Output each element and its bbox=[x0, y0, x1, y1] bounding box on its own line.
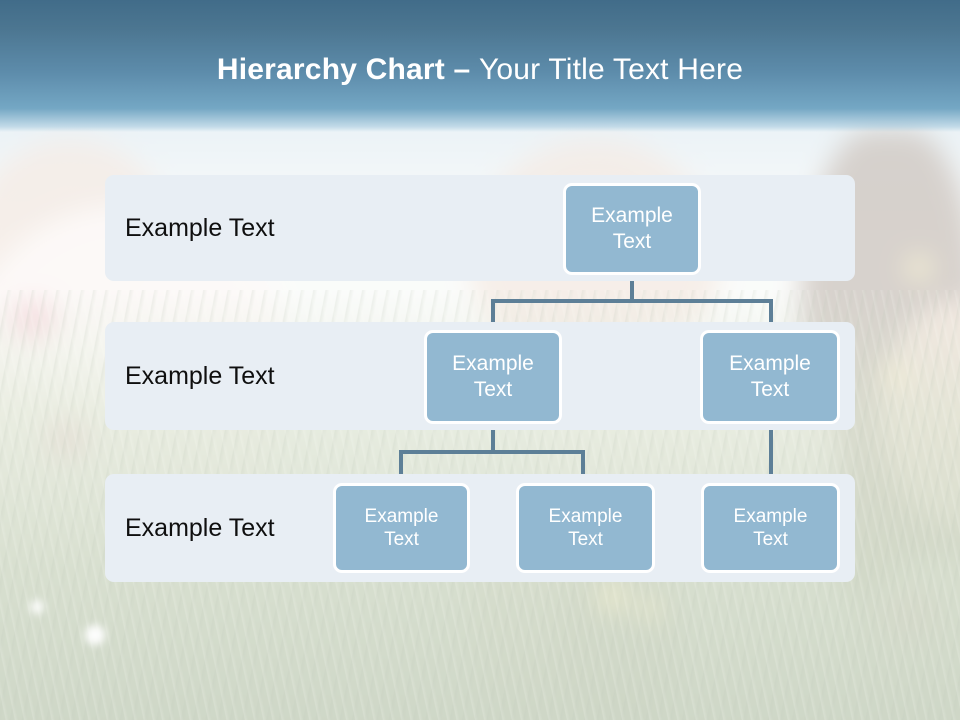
page-title: Hierarchy Chart – Your Title Text Here bbox=[0, 52, 960, 88]
node-level3-1[interactable]: ExampleText bbox=[333, 483, 470, 573]
node-line-1: Example bbox=[729, 352, 811, 375]
node-level3-3[interactable]: ExampleText bbox=[701, 483, 840, 573]
node-level3-2[interactable]: ExampleText bbox=[516, 483, 655, 573]
node-text: ExampleText bbox=[452, 351, 534, 403]
node-line-2: Text bbox=[568, 529, 603, 550]
node-line-1: Example bbox=[591, 204, 673, 227]
connector-level1-bar bbox=[491, 299, 773, 303]
connector-level2-bar bbox=[399, 450, 585, 454]
node-line-2: Text bbox=[384, 529, 419, 550]
node-line-2: Text bbox=[753, 529, 788, 550]
node-line-1: Example bbox=[734, 506, 808, 527]
node-level2-2[interactable]: ExampleText bbox=[700, 330, 840, 424]
node-line-2: Text bbox=[613, 230, 652, 253]
row-2-label: Example Text bbox=[125, 362, 275, 390]
node-line-2: Text bbox=[474, 378, 513, 401]
node-line-1: Example bbox=[549, 506, 623, 527]
slide-canvas: Hierarchy Chart – Your Title Text Here E… bbox=[0, 0, 960, 720]
node-level2-1[interactable]: ExampleText bbox=[424, 330, 562, 424]
node-line-1: Example bbox=[452, 352, 534, 375]
node-line-2: Text bbox=[751, 378, 790, 401]
page-title-light: Your Title Text Here bbox=[479, 53, 743, 86]
hierarchy-row-1[interactable]: Example Text bbox=[105, 175, 855, 281]
node-text: ExampleText bbox=[729, 351, 811, 403]
title-banner: Hierarchy Chart – Your Title Text Here bbox=[0, 0, 960, 132]
node-text: ExampleText bbox=[365, 505, 439, 551]
node-level1-1[interactable]: ExampleText bbox=[563, 183, 701, 275]
node-text: ExampleText bbox=[549, 505, 623, 551]
page-title-bold: Hierarchy Chart – bbox=[217, 53, 479, 86]
row-1-label: Example Text bbox=[125, 214, 275, 242]
node-text: ExampleText bbox=[734, 505, 808, 551]
node-text: ExampleText bbox=[591, 203, 673, 255]
row-3-label: Example Text bbox=[125, 514, 275, 542]
node-line-1: Example bbox=[365, 506, 439, 527]
